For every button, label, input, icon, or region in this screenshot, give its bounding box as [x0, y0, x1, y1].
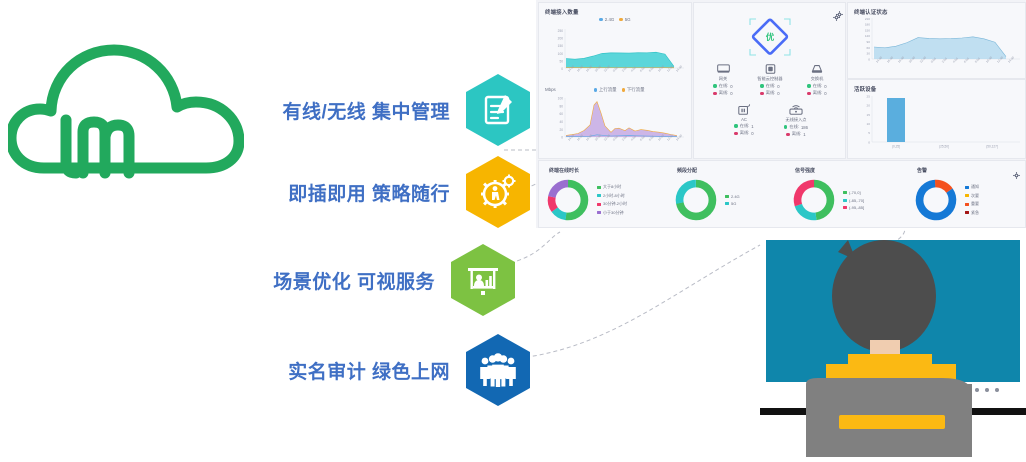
feature-row-3[interactable]: 场景优化 可视服务 [235, 244, 515, 316]
feature-hex-1[interactable] [466, 74, 530, 146]
feature-row-4[interactable]: 实名审计 绿色上网 [250, 334, 530, 406]
gear-icon[interactable] [836, 5, 843, 12]
svg-text:0: 0 [561, 67, 563, 71]
donut-card-online-duration[interactable]: 终端在线时长 大于8小时 2小时-8小时 30分钟-2小时 [541, 161, 665, 227]
poster-stage: 有线/无线 集中管理 即插即用 策略随行 [0, 0, 1026, 457]
donut-legend: 大于8小时 2小时-8小时 30分钟-2小时 小于30分钟 [597, 184, 627, 215]
network-dashboard[interactable]: 终端接入数量 2.4G 5G 050100 15020025 [536, 0, 1026, 228]
legend-label: 通知 [971, 184, 979, 190]
legend-label: (-95,-85] [849, 205, 864, 210]
svg-text:5: 5 [868, 131, 870, 135]
device-card-ac[interactable]: AC 在线:1 离线:0 [719, 103, 769, 136]
device-online: 在线:186 [771, 124, 821, 130]
donut-card-signal[interactable]: 信号强度 (-70,0] (-85,-70] (-95,-85] [787, 161, 905, 227]
svg-text:0: 0 [868, 140, 870, 144]
device-offline: 离线:0 [698, 90, 748, 96]
donut-legend: 通知 次要 重要 紧急 [965, 184, 979, 215]
panel-active-devices[interactable]: 活跃设备 0510 152025 (0,25] (25,50] (50,127] [847, 79, 1026, 159]
legend-label: 次要 [971, 193, 979, 199]
donut-chart [673, 177, 719, 223]
gateway-icon [716, 63, 731, 75]
legend-label: 小于30分钟 [603, 210, 623, 216]
svg-text:(50,127]: (50,127] [986, 145, 998, 149]
svg-text:100: 100 [558, 52, 564, 56]
device-name: 网关 [698, 76, 748, 82]
device-offline: 离线:0 [745, 90, 795, 96]
donut-title: 终端在线时长 [549, 167, 579, 174]
traffic-unit-label: Mbps [545, 87, 556, 92]
svg-text:(0,25]: (0,25] [892, 145, 900, 149]
donut-title: 信号强度 [795, 167, 815, 174]
device-offline: 离线:1 [771, 131, 821, 137]
svg-text:50: 50 [559, 59, 563, 63]
svg-text:40: 40 [559, 120, 563, 124]
feature-hex-4[interactable] [466, 334, 530, 406]
device-name: 智能云控制器 [745, 76, 795, 82]
feature-hex-2[interactable] [466, 156, 530, 228]
svg-text:150: 150 [865, 28, 870, 32]
feature-label: 场景优化 可视服务 [235, 267, 451, 294]
legend-terminal-access: 2.4G 5G [539, 17, 691, 22]
svg-text:(25,50]: (25,50] [939, 145, 949, 149]
device-card-controller[interactable]: 智能云控制器 在线:0 离线:0 [745, 63, 795, 96]
svg-text:20: 20 [559, 128, 563, 132]
feature-hex-3[interactable] [451, 244, 515, 316]
svg-text:10: 10 [867, 122, 871, 126]
panel-donut-summary[interactable]: 终端在线时长 大于8小时 2小时-8小时 30分钟-2小时 [538, 160, 1026, 228]
donut-title: 告警 [917, 167, 927, 174]
svg-text:0: 0 [561, 136, 563, 140]
donut-card-alarm[interactable]: 告警 通知 次要 重要 紧急 [909, 161, 1023, 227]
device-online: 在线:0 [792, 83, 842, 89]
panel-terminal-access[interactable]: 终端接入数量 2.4G 5G 050100 15020025 [538, 2, 692, 159]
svg-text:14:00: 14:00 [675, 133, 683, 141]
panel-title: 终端接入数量 [545, 8, 579, 16]
cloud-lm-logo [8, 22, 244, 202]
legend-label: 2.4G [605, 17, 615, 22]
device-card-switch[interactable]: 交换机 在线:0 离线:0 [792, 63, 842, 96]
ap-icon [787, 103, 805, 116]
device-card-ap[interactable]: 无线接入点 在线:186 离线:1 [771, 103, 821, 137]
svg-text:90: 90 [867, 40, 871, 44]
svg-text:180: 180 [865, 23, 870, 27]
ac-icon [737, 103, 751, 116]
person-at-monitor-illustration [760, 230, 1026, 457]
donut-chart [791, 177, 837, 223]
svg-text:120: 120 [865, 34, 870, 38]
chart-auth-status: 03060 90120150 180210 14:00 16:00 18:00 … [848, 15, 1024, 77]
device-name: 无线接入点 [771, 117, 821, 123]
svg-text:0: 0 [868, 57, 870, 61]
controller-icon [764, 63, 777, 75]
legend-label: 紧急 [971, 210, 979, 216]
health-badge: 优 [694, 13, 845, 61]
feature-label: 实名审计 绿色上网 [250, 357, 466, 384]
device-online: 在线:1 [719, 123, 769, 129]
feature-label: 即插即用 策略随行 [250, 179, 466, 206]
svg-text:60: 60 [867, 46, 871, 50]
gear-person-icon [466, 156, 530, 228]
carousel-dots[interactable] [975, 388, 999, 392]
chart-terminal-access: 050100 150200250 14:00 16:00 18:00 20:00… [539, 23, 689, 85]
carousel-dot[interactable] [975, 388, 979, 392]
donut-chart [545, 177, 591, 223]
panel-device-health[interactable]: 优 网关 在线:0 离线:0 [693, 2, 846, 159]
svg-text:60: 60 [559, 112, 563, 116]
svg-text:20: 20 [867, 104, 871, 108]
svg-text:250: 250 [558, 29, 564, 33]
legend-label: 大于8小时 [603, 184, 621, 190]
svg-text:80: 80 [559, 104, 563, 108]
gear-icon[interactable] [1013, 166, 1020, 173]
feature-label: 有线/无线 集中管理 [250, 97, 466, 124]
feature-row-1[interactable]: 有线/无线 集中管理 [250, 74, 530, 146]
donut-legend: (-70,0] (-85,-70] (-95,-85] [843, 190, 864, 210]
chart-active-devices: 0510 152025 (0,25] (25,50] (50,127] [848, 92, 1024, 158]
svg-text:14:00: 14:00 [675, 64, 683, 72]
legend-label: (-70,0] [849, 190, 861, 195]
legend-label: 2.4G [731, 194, 740, 199]
svg-text:200: 200 [558, 37, 564, 41]
svg-text:14:00: 14:00 [1007, 55, 1015, 63]
donut-title: 频段分配 [677, 167, 697, 174]
svg-text:15: 15 [867, 113, 871, 117]
svg-text:30: 30 [867, 52, 871, 56]
device-online: 在线:0 [745, 83, 795, 89]
people-group-icon [466, 334, 530, 406]
health-badge-text: 优 [765, 32, 774, 42]
legend-label: 5G [625, 17, 631, 22]
document-edit-icon [466, 74, 530, 146]
chart-traffic: 02040 6080100 14:00 16:00 18:00 20:00 22… [539, 93, 689, 155]
device-offline: 离线:0 [719, 130, 769, 136]
device-online: 在线:0 [698, 83, 748, 89]
svg-text:210: 210 [865, 17, 870, 21]
donut-card-band[interactable]: 频段分配 2.4G 5G [669, 161, 781, 227]
chair-stripe [839, 415, 945, 429]
legend-label: 2小时-8小时 [603, 193, 625, 199]
head-hair [832, 240, 936, 352]
legend-label: 30分钟-2小时 [603, 201, 627, 207]
carousel-dot[interactable] [985, 388, 989, 392]
svg-text:25: 25 [867, 94, 871, 98]
svg-text:100: 100 [558, 97, 564, 101]
feature-row-2[interactable]: 即插即用 策略随行 [250, 156, 530, 228]
device-name: 交换机 [792, 76, 842, 82]
legend-label: 5G [731, 201, 736, 206]
device-card-gateway[interactable]: 网关 在线:0 离线:0 [698, 63, 748, 96]
donut-legend: 2.4G 5G [725, 194, 740, 206]
panel-auth-status[interactable]: 终端认证状态 03060 90120150 180210 14:00 16:00… [847, 2, 1026, 79]
svg-text:150: 150 [558, 44, 564, 48]
device-name: AC [719, 117, 769, 122]
legend-label: 重要 [971, 201, 979, 207]
legend-item: 2.4G [599, 17, 614, 22]
presentation-chart-icon [451, 244, 515, 316]
donut-chart [913, 177, 959, 223]
switch-icon [810, 63, 824, 75]
device-offline: 离线:0 [792, 90, 842, 96]
legend-label: (-85,-70] [849, 198, 864, 203]
carousel-dot[interactable] [995, 388, 999, 392]
legend-item: 5G [619, 17, 630, 22]
